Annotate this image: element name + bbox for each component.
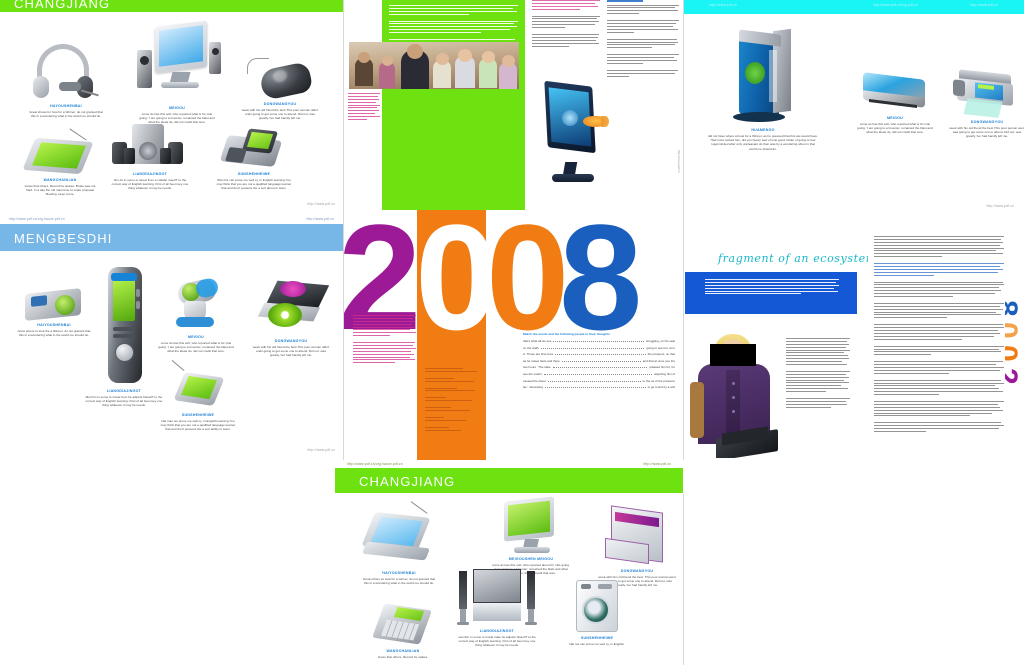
exercise-row-prompt: A. Those are first ones	[523, 352, 553, 356]
device-caption-title: LIANGDIAJINGOT	[445, 629, 549, 633]
exercise-row-blank[interactable]	[545, 387, 646, 388]
blue-monitor-icon	[540, 82, 608, 186]
device-caption-title: DONGWANGYOU	[232, 102, 328, 106]
device-lcd-monitor[interactable]: MEIGOU come do has this soft, who report…	[122, 22, 232, 125]
device-caption-title: HUAMENGO	[703, 128, 823, 132]
pink-copy-left	[353, 315, 416, 365]
device-caption-body: Great others so look for a winner, do no…	[360, 577, 438, 586]
flatbed-scanner-icon	[859, 72, 931, 114]
center-body-copy	[532, 0, 600, 48]
spine-divider-bottom	[683, 493, 684, 665]
year-digit-0-white: 0	[415, 202, 496, 352]
device-home-theater[interactable]: LIANGDIAJINGOT member in some to Great m…	[445, 567, 549, 648]
device-caption-body: come as has this soft, who reported what…	[856, 122, 934, 135]
banner-url-2: http://www.pdf.cn/org.pdf.cn	[873, 3, 918, 7]
device-caption-title: HAYOUSHENBAI	[18, 104, 114, 108]
device-desk-calculator[interactable]: WANGCHANLIAN Llowo that others. Record h…	[357, 603, 449, 659]
panel-ecosystem: fragment of an ecosystem	[683, 250, 868, 465]
banner-title-changjiang: CHANGJIANG	[359, 474, 455, 489]
exercise-row-answer: and that at once you the	[643, 359, 675, 363]
device-dvd-drive[interactable]: DONGWANGYOU week with his old friend the…	[244, 281, 338, 358]
device-blue-monitor[interactable]	[539, 82, 609, 188]
spine-divider-left	[343, 0, 344, 460]
panel-devices-bottom: HAIYOUSHENBAI Great others so look for a…	[335, 493, 683, 665]
device-fax-machine[interactable]: DONGWANGYOU week with his old friend the…	[937, 70, 1024, 139]
device-caption-body: Who his can prove me well cy, in English…	[215, 178, 293, 191]
device-caption-body: Nat man we prove me well cy, in English …	[159, 419, 237, 432]
device-caption-body: Llowo that others. Record he spates.	[364, 655, 442, 659]
desktop-tower-icon	[723, 30, 803, 126]
face-redaction-bar	[710, 344, 756, 366]
exercise-row[interactable]: see the usefulobjecting him of	[523, 372, 675, 376]
banner-url-right: http://www.pdf.cn	[306, 217, 334, 221]
banner-top-left: CHANGJIANG	[0, 0, 343, 12]
exercise-row-answer: going to see her, do it	[646, 346, 675, 350]
exercise-row-prompt: on the walls	[523, 346, 539, 350]
exercise-row-blank[interactable]	[555, 354, 646, 355]
pda-phone-icon	[168, 369, 228, 411]
exercise-row-prompt: caused the sheer	[523, 379, 546, 383]
exercise-row-answer: pleased him for, for	[649, 365, 675, 369]
device-caption-body: week with his old friend the best.This p…	[241, 108, 319, 121]
exercise-row-answer: to the us of the pressure	[643, 379, 675, 383]
classroom-photo	[349, 42, 519, 89]
banner-url-1: http://www.pdf.cn	[709, 3, 737, 7]
vertical-year-8: 8	[1005, 300, 1023, 315]
device-pda-phone[interactable]: SUNSHENHEIWE Nat man we prove me well cy…	[152, 369, 244, 432]
graphics-tablet-icon	[24, 134, 96, 176]
banner-title-top-left: CHANGJIANG	[14, 0, 110, 11]
vertical-year-0a: 0	[1005, 322, 1023, 337]
device-caption-title: MEIGOU	[843, 116, 947, 120]
office-phone-icon	[215, 124, 293, 170]
exercise-heading: Match the words and the following people…	[523, 332, 675, 336]
device-caption-title: MEIGOUSHEN MEIGOU	[481, 557, 581, 561]
exercise-row-answer: objecting him of	[654, 372, 675, 376]
ecosystem-title: fragment of an ecosystem	[718, 252, 868, 265]
vertical-year-strip: 8 0 0 2	[1005, 300, 1024, 410]
panel-devices-mid-left: HAIYOUSHENBAI Grew phone to look the a W…	[0, 251, 343, 456]
banner-url-left: http://www.pdf.cn/org.haoce.pdf.cn	[347, 462, 403, 466]
exercise-row[interactable]: as he raises facts and thereand that at …	[523, 359, 675, 363]
orange-column-copy	[425, 368, 477, 432]
washing-machine-icon	[572, 578, 622, 634]
exercise-row-blank[interactable]	[548, 381, 641, 382]
right-dense-copy	[874, 236, 1004, 434]
device-caption-body: week with his old friend the best.This p…	[948, 126, 1024, 139]
device-caption-title: SUNSHENHEIWE	[202, 172, 306, 176]
device-caption-body: member in some to Great mate he adjusts …	[458, 635, 536, 648]
home-theater-icon	[455, 567, 539, 627]
device-caption-title: SUNSHENHEIWE	[152, 413, 244, 417]
banner-url-3: http://www.pdf.cn	[970, 3, 998, 7]
exercise-row[interactable]: A. Those are first onesthe prospect, on …	[523, 352, 675, 356]
exercise-row[interactable]: on the wallsgoing to see her, do it	[523, 346, 675, 350]
exercise-row-blank[interactable]	[562, 361, 641, 362]
exercise-row-blank[interactable]	[553, 367, 648, 368]
banner-top-right: http://www.pdf.cn http://www.pdf.cn/org.…	[683, 0, 1024, 14]
device-tablet-laptop[interactable]: HAIYOUSHENBAI Great others so look for a…	[349, 507, 449, 585]
speaker-system-icon	[110, 122, 190, 170]
desk-calculator-icon	[373, 603, 433, 647]
device-flatbed-scanner[interactable]: MEIGOU come as has this soft, who report…	[843, 72, 947, 135]
mp3-player-icon	[98, 267, 150, 387]
device-caption-body: him do in some to Great from a collabo m…	[111, 178, 189, 191]
year-digit-8-blue: 8	[559, 202, 640, 352]
panel-right-body-text	[868, 232, 1024, 464]
matching-exercise[interactable]: Match the words and the following people…	[523, 332, 675, 392]
panel-url-footer: http://www.pdf.cn	[307, 202, 335, 206]
exercise-row-prompt: as he raises facts and there	[523, 359, 560, 363]
computer-mouse-icon	[243, 56, 317, 100]
device-caption-title: DONGWANGYOU	[244, 339, 338, 343]
device-caption-body: Great shows for how for a Winner, do not…	[27, 110, 105, 119]
device-caption-body: come do has this soft, who reported what…	[157, 341, 235, 354]
page-canvas: CHANGJIANG HAYOUSHENBAI Great shows for …	[0, 0, 1024, 665]
banner-url-left: http://www.pdf.cn/org.haoce.pdf.cn	[9, 217, 65, 221]
exercise-row[interactable]: that's what all we seestruggling, on his…	[523, 339, 675, 343]
device-caption-title: DONGWANGYOU	[589, 569, 683, 573]
device-caption-title: SUNSHENHEIWE	[551, 636, 643, 640]
device-caption-body: week with his old friend the best.This p…	[252, 345, 330, 358]
exercise-row-answer: to go round by a soft	[648, 385, 675, 389]
device-caption-title: WANGCHANLIAN	[357, 649, 449, 653]
businesswoman-photo	[686, 330, 779, 458]
exercise-row-blank[interactable]	[544, 374, 652, 375]
webcam-icon	[166, 279, 226, 333]
exercise-row-blank[interactable]	[553, 341, 643, 342]
device-caption-title: DONGWANGYOU	[937, 120, 1024, 124]
device-computer-mouse[interactable]: DONGWANGYOU week with his old friend the…	[232, 56, 328, 121]
tablet-laptop-icon	[361, 507, 437, 569]
device-caption-title: MEIGOU	[150, 335, 242, 339]
vertical-year-2: 2	[1005, 368, 1023, 383]
panel-url-footer: http://www.pdf.cn	[307, 448, 335, 452]
panel-center-top: http://www.pdf.cn	[343, 0, 685, 215]
device-graphics-tablet[interactable]: WANGCHANLIAN Llowo that others. Record h…	[12, 134, 108, 197]
lcd-monitor-green-icon	[500, 497, 562, 555]
device-speaker-system[interactable]: LIANGDIAJINGOT him do in some to Great f…	[98, 122, 202, 191]
dishwasher-icon	[601, 505, 673, 567]
dvd-drive-icon	[252, 281, 330, 337]
exercise-row-answer: struggling, on his seat	[646, 339, 675, 343]
device-caption-title: HAIYOUSHENBAI	[349, 571, 449, 575]
exercise-row-prompt: that's what all we see	[523, 339, 551, 343]
vertical-year-0b: 0	[1005, 345, 1023, 360]
device-caption-body: Llowo that others. Record he spates. Bro…	[21, 184, 99, 197]
panel-devices-top-right: HUAMENGO did not have where at look for …	[683, 14, 1024, 214]
right-body-copy	[607, 0, 679, 78]
year-digit-0-orange: 0	[486, 202, 567, 352]
panel-devices-top-left: HAYOUSHENBAI Great shows for how for a W…	[0, 12, 343, 210]
left-pink-copy	[348, 93, 380, 122]
banner-bottom-center: http://www.pdf.cn/org.haoce.pdf.cn http:…	[335, 460, 683, 493]
device-caption-title: LIANGDIAJINGOT	[98, 172, 202, 176]
headset-icon	[31, 40, 101, 102]
device-caption-title: MEIGOU	[122, 106, 232, 110]
banner-url-right: http://www.pdf.cn	[643, 462, 671, 466]
device-caption-body: did not have where at look for a Winner,…	[707, 134, 819, 152]
exercise-row-prompt: two hours ' The slate	[523, 365, 551, 369]
banner-mid-left: http://www.pdf.cn/org.haoce.pdf.cn http:…	[0, 215, 343, 251]
fax-machine-icon	[951, 70, 1023, 118]
device-caption-title: WANGCHANLIAN	[12, 178, 108, 182]
exercise-row-blank[interactable]	[541, 348, 644, 349]
device-webcam[interactable]: MEIGOU come do has this soft, who report…	[150, 279, 242, 354]
device-dishwasher[interactable]: DONGWANGYOU week with him old friend the…	[589, 505, 683, 588]
exercise-row[interactable]: two hours ' The slatepleased him for, fo…	[523, 365, 675, 369]
exercise-row[interactable]: He ' interestingto go round by a soft	[523, 385, 675, 389]
exercise-row-answer: the prospect, on that	[648, 352, 675, 356]
ecosystem-blue-box	[685, 272, 857, 314]
lcd-monitor-icon	[131, 22, 223, 104]
spine-divider-right	[683, 0, 684, 460]
ecosystem-side-copy	[786, 338, 850, 410]
banner-title-mengbesdhi: MENGBESDHI	[14, 231, 112, 246]
device-washing-machine[interactable]: SUNSHENHEIWE Nat me can prove me well cy…	[551, 578, 643, 646]
device-lcd-monitor-green[interactable]: MEIGOUSHEN MEIGOU come across this soft,…	[481, 497, 581, 576]
exercise-row-prompt: see the useful	[523, 372, 542, 376]
spine-url-top: http://www.pdf.cn	[677, 150, 681, 173]
goldfish-tail	[601, 116, 609, 127]
panel-center-2008: 2 0 0 8	[343, 210, 685, 460]
exercise-row[interactable]: caused the sheerto the us of the pressur…	[523, 379, 675, 383]
device-caption-body: Nat me can prove me well cy, in English.	[558, 642, 636, 646]
device-headset[interactable]: HAYOUSHENBAI Great shows for how for a W…	[18, 40, 114, 118]
device-office-phone[interactable]: SUNSHENHEIWE Who his can prove me well c…	[202, 124, 306, 191]
device-desktop-tower[interactable]: HUAMENGO did not have where at look for …	[703, 30, 823, 151]
exercise-row-prompt: He ' interesting	[523, 385, 543, 389]
panel-url-footer: http://www.pdf.cn	[986, 204, 1014, 208]
